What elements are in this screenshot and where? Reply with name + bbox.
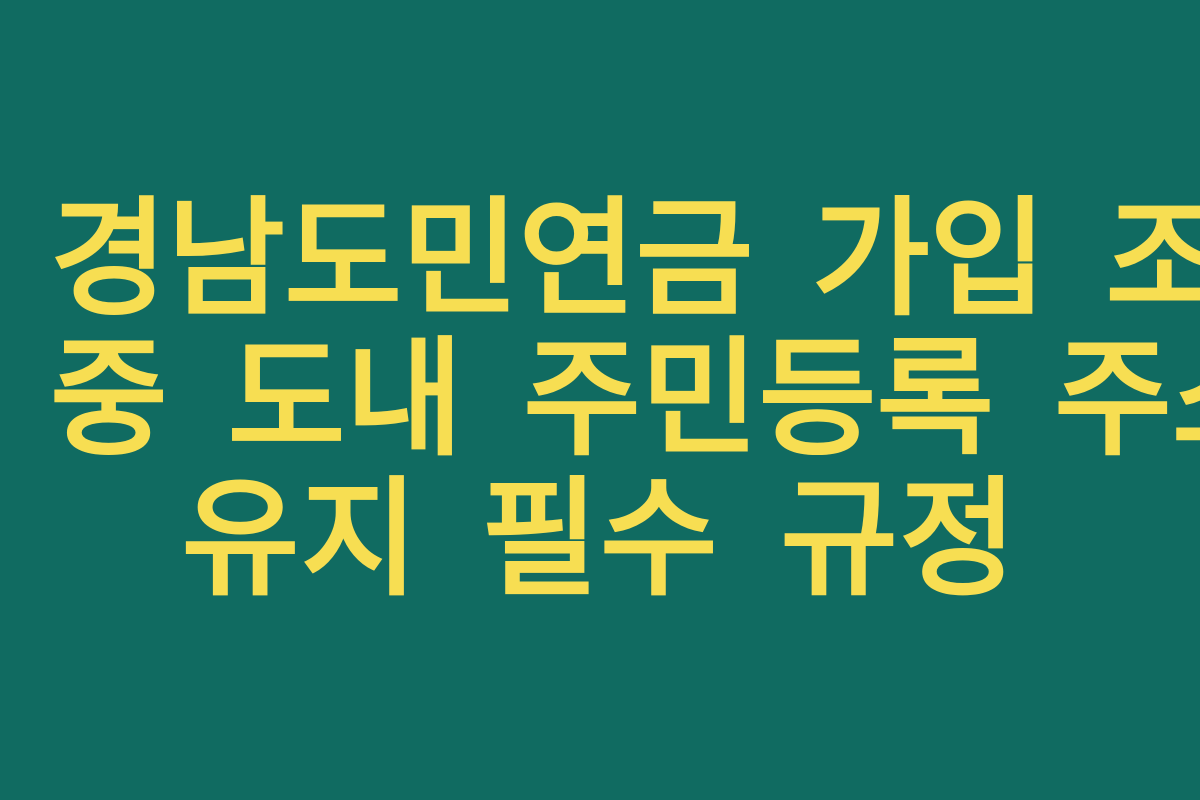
- headline-line-3: 유지 필수 규정: [50, 470, 1150, 610]
- headline-line-1: 경남도민연금 가입 조건: [50, 190, 1150, 330]
- thumbnail-card: 경남도민연금 가입 조건 중 도내 주민등록 주소 유지 필수 규정: [0, 0, 1200, 800]
- headline-line-2: 중 도내 주민등록 주소: [50, 330, 1150, 470]
- headline: 경남도민연금 가입 조건 중 도내 주민등록 주소 유지 필수 규정: [50, 190, 1150, 610]
